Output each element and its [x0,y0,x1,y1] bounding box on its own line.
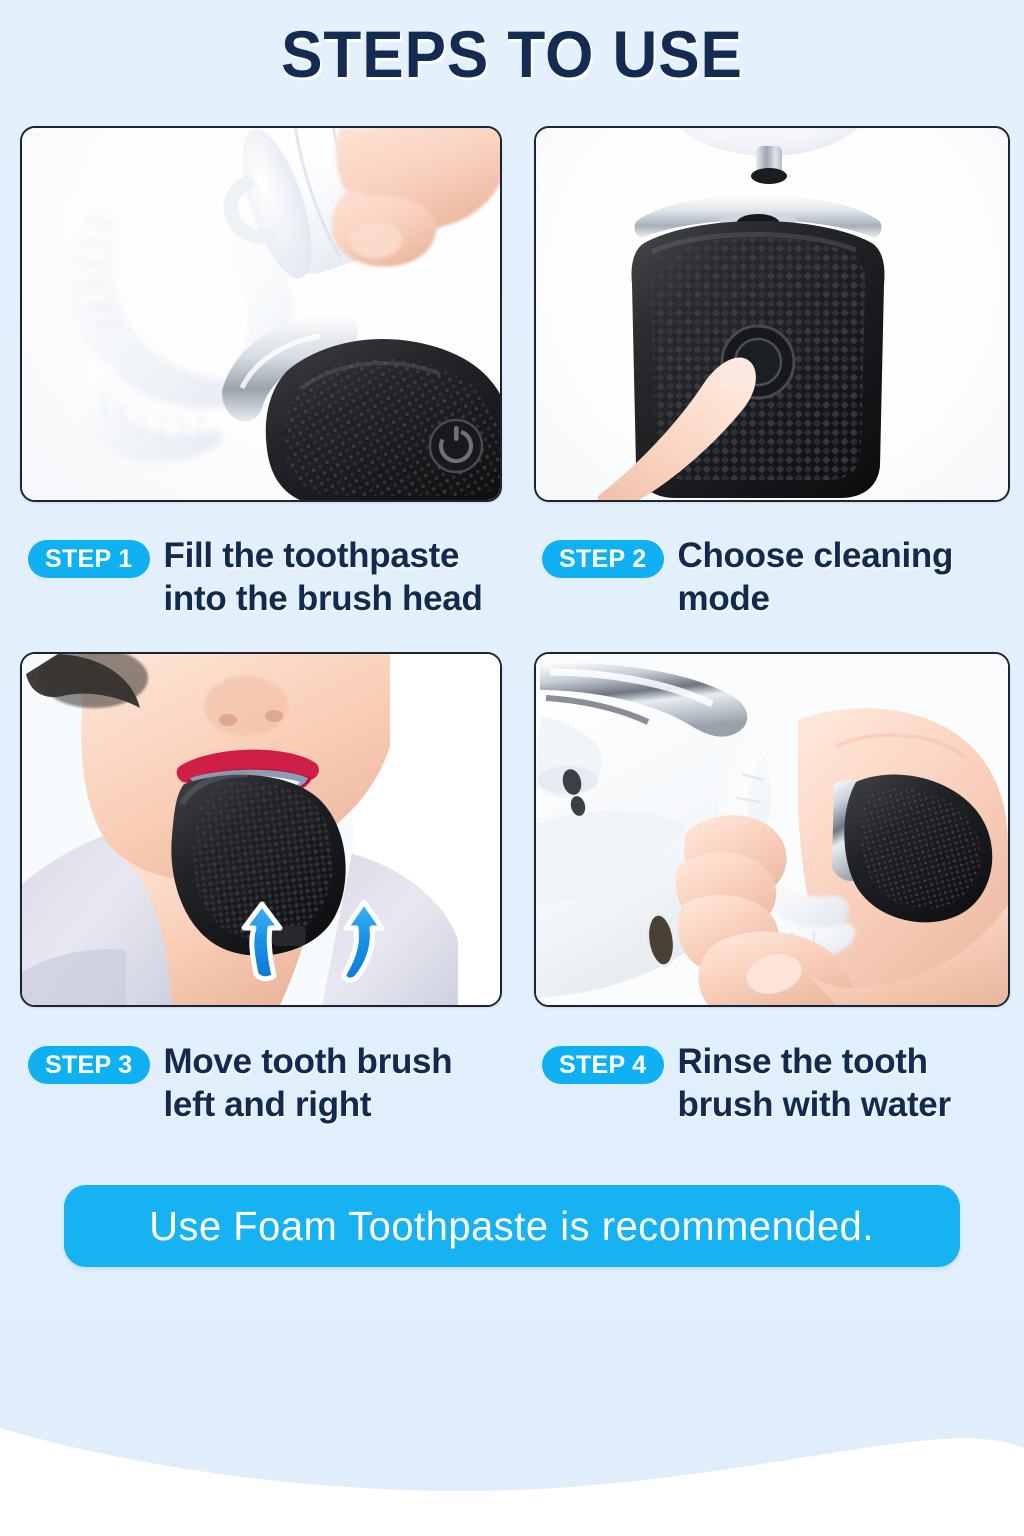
step-image-panel-4 [534,652,1010,1007]
woman-using-brush-graphic [22,654,500,1005]
caption-line-2: left and right [164,1083,453,1126]
caption-line-1: Rinse the tooth [678,1040,951,1083]
step-image-panel-1 [20,126,502,502]
step-image-panel-2 [534,126,1010,502]
power-button-icon [430,420,482,472]
step-image-panel-3 [20,652,502,1007]
step-caption-3: STEP 3 Move tooth brush left and right [28,1040,514,1126]
caption-line-1: Choose cleaning [678,534,954,577]
device-body-graphic [218,296,502,502]
step-caption-text-1: Fill the toothpaste into the brush head [164,534,483,620]
bottom-wave-divider [0,1336,1024,1536]
step-caption-4: STEP 4 Rinse the tooth brush with water [542,1040,1012,1126]
infographic-canvas: STEPS TO USE [0,0,1024,1536]
recommendation-text: Use Foam Toothpaste is recommended. [150,1202,875,1250]
step-caption-text-4: Rinse the tooth brush with water [678,1040,951,1126]
finger-graphic [598,318,758,502]
step-caption-text-3: Move tooth brush left and right [164,1040,453,1126]
brush-head-top-graphic [664,126,874,184]
page-title: STEPS TO USE [31,16,994,92]
scene-move-left-right [22,654,500,1005]
caption-line-1: Move tooth brush [164,1040,453,1083]
caption-line-2: brush with water [678,1083,951,1126]
scene-fill-toothpaste [22,128,500,500]
step-caption-1: STEP 1 Fill the toothpaste into the brus… [28,534,514,620]
step-badge-3: STEP 3 [28,1046,150,1084]
recommendation-banner: Use Foam Toothpaste is recommended. [64,1185,960,1267]
step-caption-text-2: Choose cleaning mode [678,534,954,620]
caption-line-2: mode [678,577,954,620]
step-caption-2: STEP 2 Choose cleaning mode [542,534,1012,620]
step-badge-1: STEP 1 [28,540,150,578]
scene-rinse-brush [536,654,1008,1005]
scene-choose-mode [536,128,1008,500]
rinsing-brush-graphic [536,654,1008,1005]
step-badge-4: STEP 4 [542,1046,664,1084]
caption-line-1: Fill the toothpaste [164,534,483,577]
caption-line-2: into the brush head [164,577,483,620]
step-badge-2: STEP 2 [542,540,664,578]
